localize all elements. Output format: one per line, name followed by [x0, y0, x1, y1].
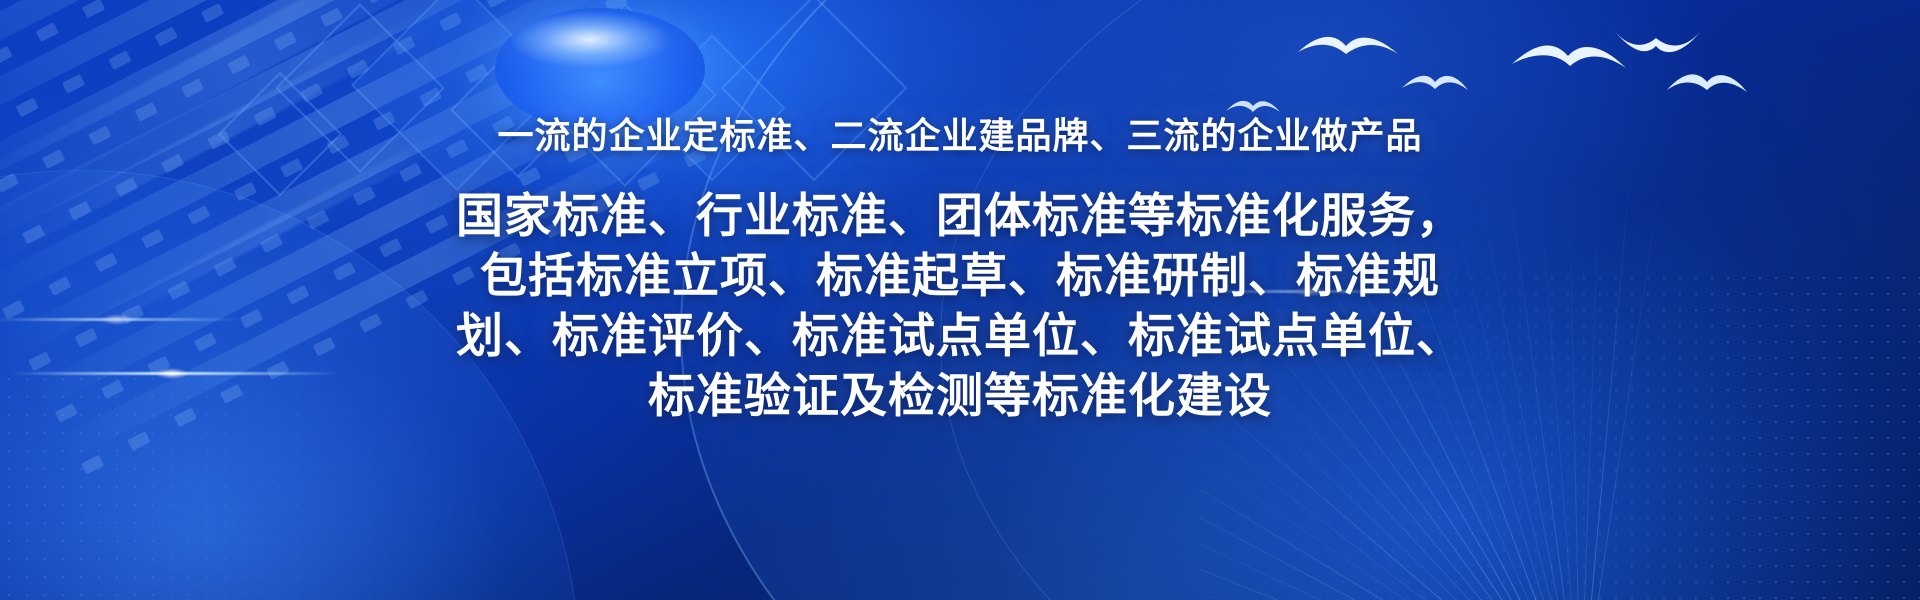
promo-banner: 一流的企业定标准、二流企业建品牌、三流的企业做产品 国家标准、行业标准、团体标准…: [0, 0, 1920, 600]
banner-headline: 一流的企业定标准、二流企业建品牌、三流的企业做产品: [497, 116, 1422, 156]
banner-body-text: 国家标准、行业标准、团体标准等标准化服务，包括标准立项、标准起草、标准研制、标准…: [445, 186, 1475, 427]
banner-content: 一流的企业定标准、二流企业建品牌、三流的企业做产品 国家标准、行业标准、团体标准…: [0, 0, 1920, 600]
